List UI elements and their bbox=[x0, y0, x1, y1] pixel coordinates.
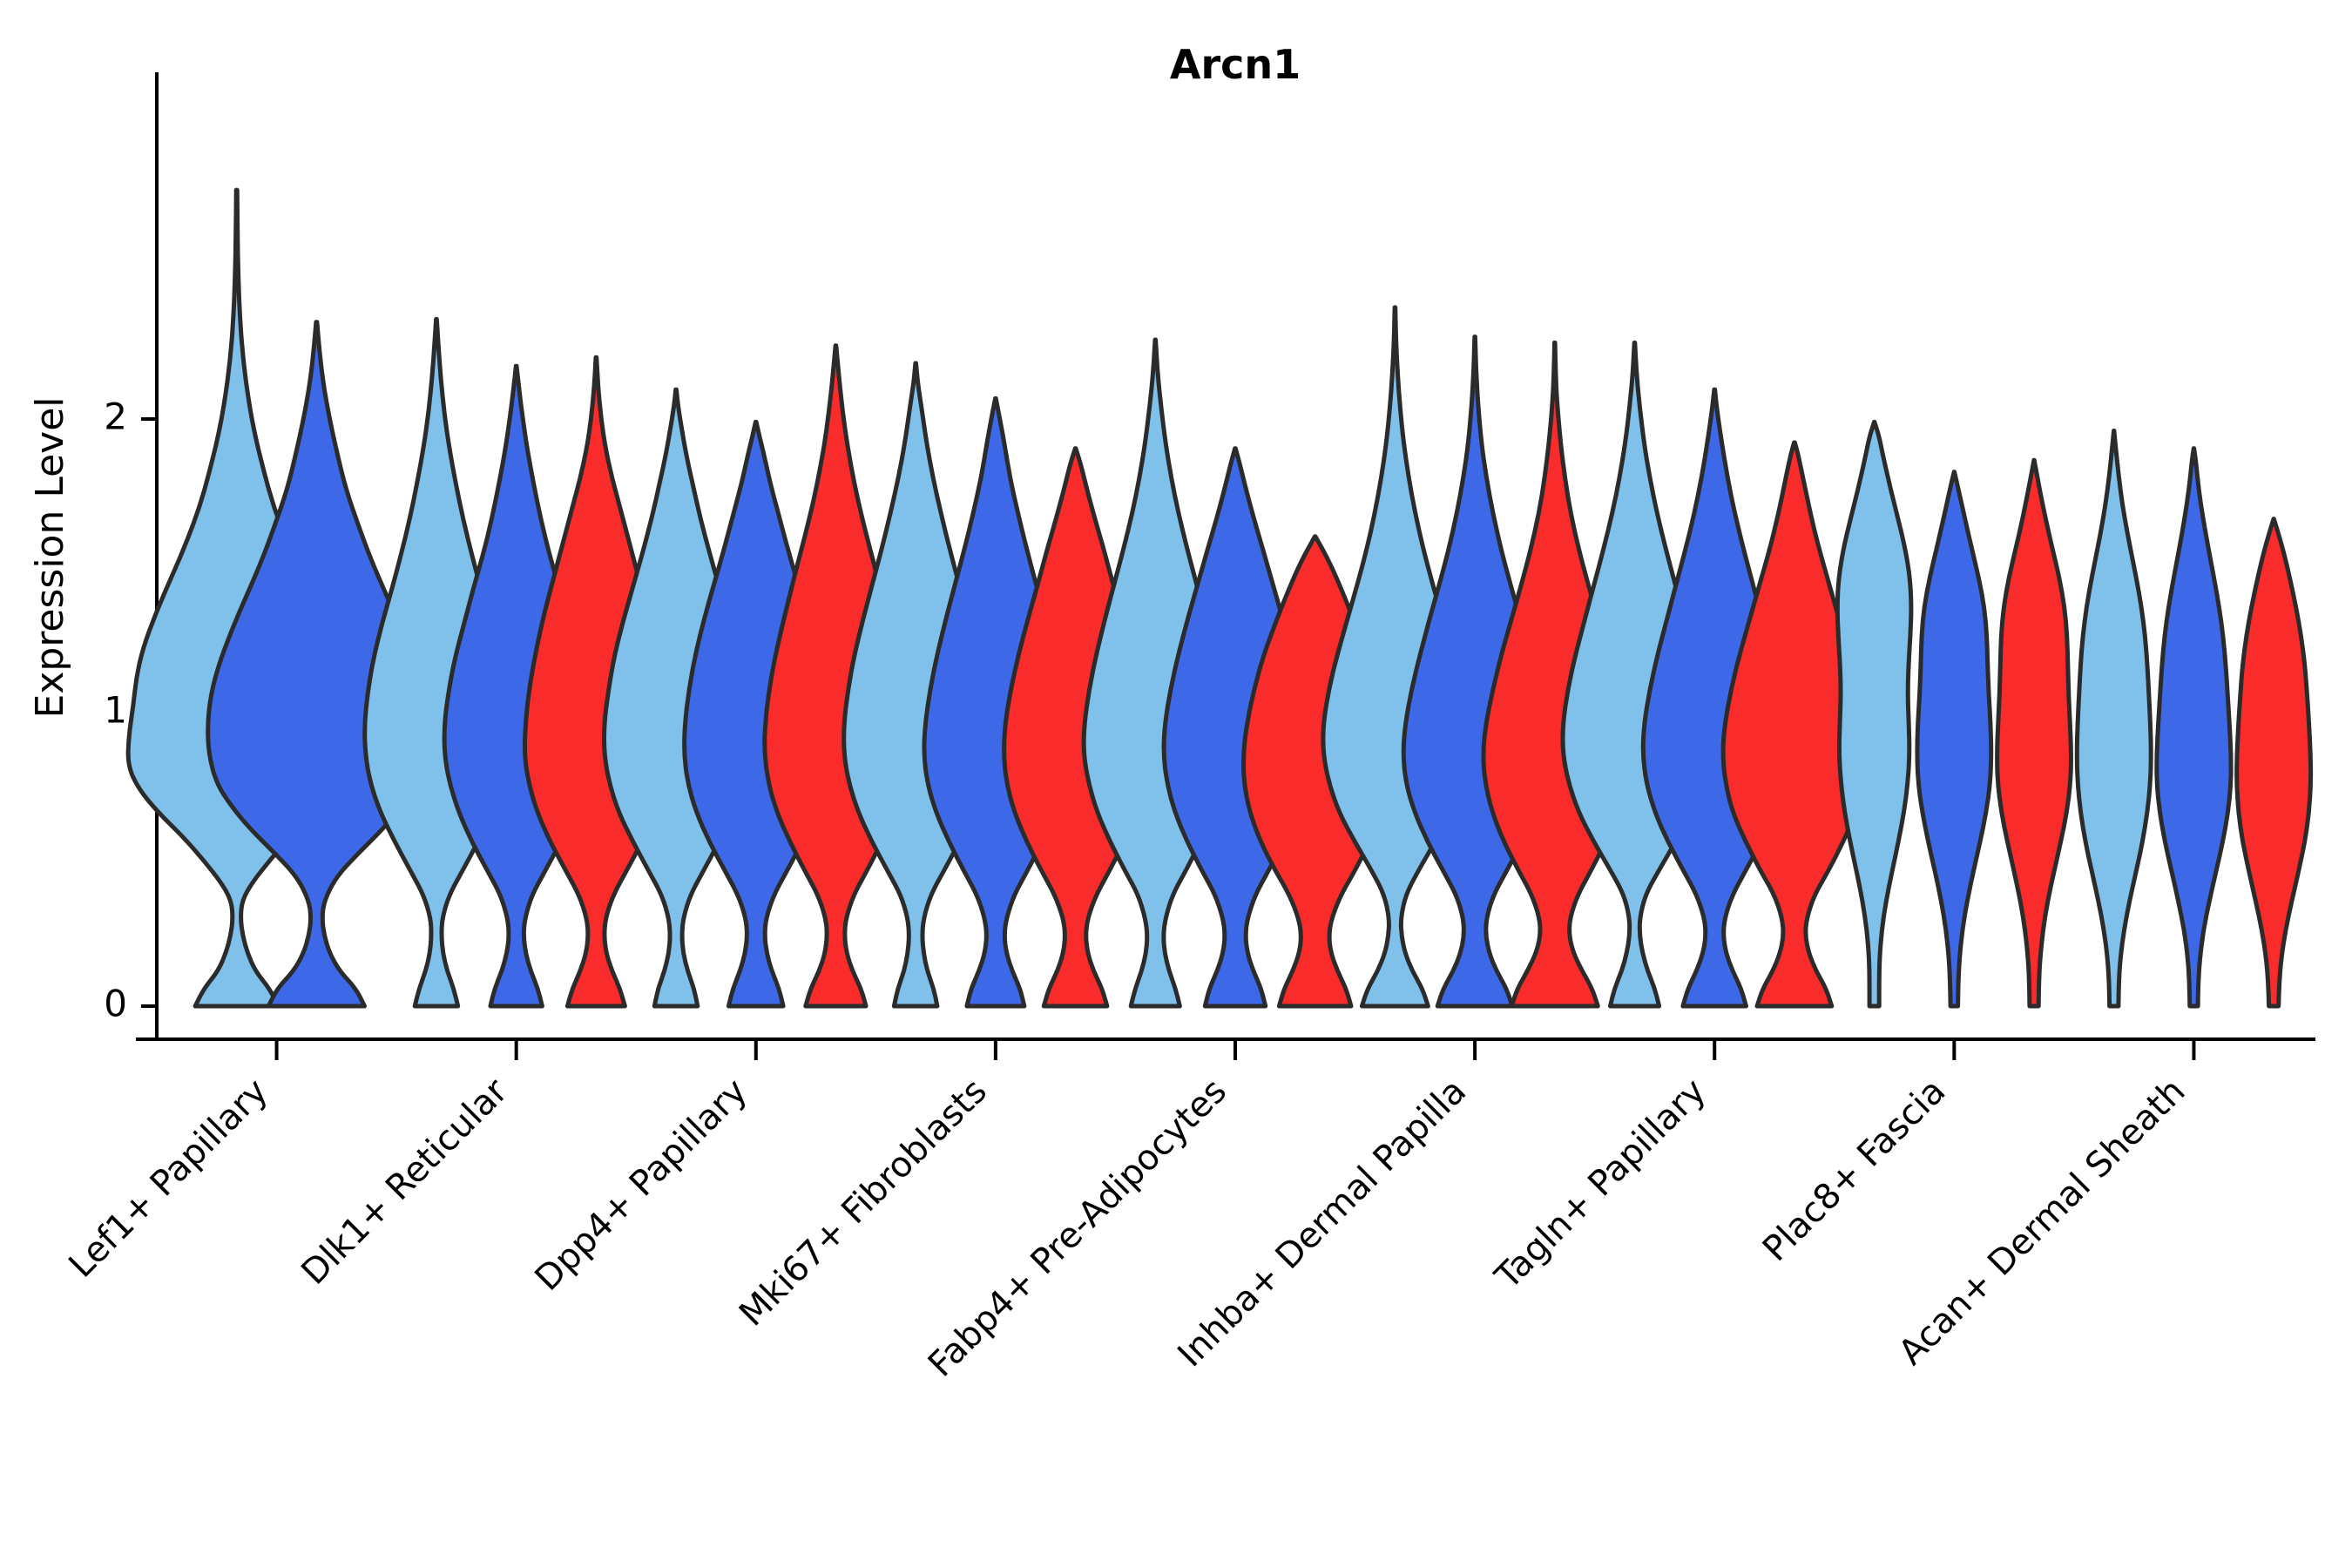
y-tick-label: 2 bbox=[104, 395, 127, 438]
y-axis-label: Expression Level bbox=[28, 397, 72, 719]
y-tick-label: 1 bbox=[104, 689, 127, 732]
plot-canvas: Arcn1 Expression Level 012 Lef1+ Papilla… bbox=[0, 0, 2352, 1568]
page-title: Arcn1 bbox=[1170, 41, 1301, 88]
y-tick-label: 0 bbox=[104, 983, 127, 1025]
violin-plot-figure: Arcn1 Expression Level 012 Lef1+ Papilla… bbox=[0, 0, 2352, 1568]
